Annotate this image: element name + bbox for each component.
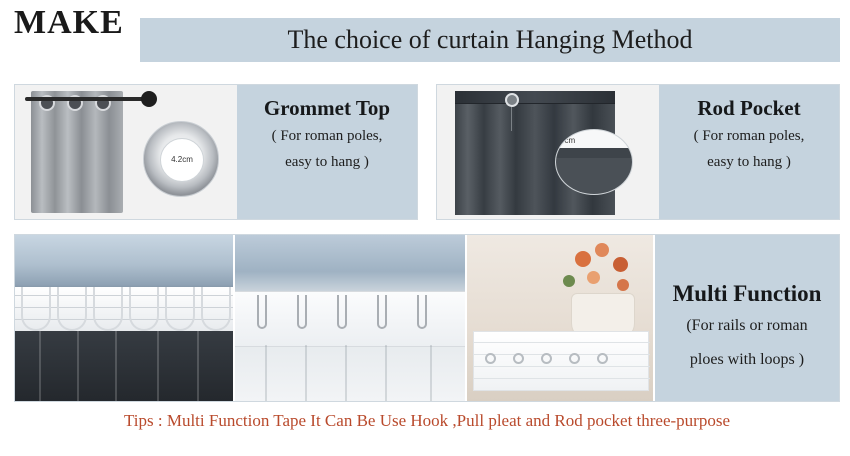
ring-icon	[485, 353, 496, 364]
rod-pocket-title: Rod Pocket	[697, 93, 800, 123]
rod-pocket-closeup: 7cm	[555, 129, 633, 195]
rod-pocket-header	[455, 91, 615, 104]
card-grommet-top: 4.2cm Grommet Top ( For roman poles, eas…	[14, 84, 418, 220]
multi-function-sub2: ploes with loops )	[690, 343, 804, 377]
multi-function-photo-2	[235, 235, 465, 401]
ring-icon	[505, 93, 519, 107]
pocket-fabric	[556, 158, 633, 195]
multi-function-photo-3	[467, 235, 653, 401]
card-rod-pocket: 7cm Rod Pocket ( For roman poles, easy t…	[436, 84, 840, 220]
pleat-tape	[235, 291, 465, 347]
rod-pocket-measure-label: 7cm	[560, 136, 575, 145]
tape-loop	[57, 287, 87, 331]
multi-function-title: Multi Function	[673, 279, 822, 309]
rod-finial	[141, 91, 157, 107]
grommet-top-label-panel: Grommet Top ( For roman poles, easy to h…	[237, 85, 417, 219]
grommet-top-photo: 4.2cm	[15, 85, 239, 219]
multi-function-sub1: (For rails or roman	[686, 309, 807, 343]
tape-loop	[201, 287, 231, 331]
hook-icon	[257, 295, 267, 329]
brand-logo: MAKE	[14, 4, 124, 42]
multi-function-photo-1	[15, 235, 233, 401]
card-multi-function: Multi Function (For rails or roman ploes…	[14, 234, 840, 402]
pocket-band	[556, 148, 633, 158]
tape-loop	[21, 287, 51, 331]
rod-pocket-label-panel: Rod Pocket ( For roman poles, easy to ha…	[659, 85, 839, 219]
tape-loop	[129, 287, 159, 331]
tip-text: Tips : Multi Function Tape It Can Be Use…	[14, 404, 840, 438]
ring-icon	[569, 353, 580, 364]
page-title: The choice of curtain Hanging Method	[140, 18, 840, 62]
grommet-measure-label: 4.2cm	[144, 155, 220, 164]
hook-icon	[337, 295, 347, 329]
curtain-rod	[25, 97, 155, 101]
tape-loop	[165, 287, 195, 331]
grommet-top-sub1: ( For roman poles,	[272, 123, 383, 149]
grommet-top-sub2: easy to hang )	[285, 149, 369, 175]
tape-loop	[93, 287, 123, 331]
rod-pocket-sub2: easy to hang )	[707, 149, 791, 175]
hook-icon	[297, 295, 307, 329]
hook-icon	[377, 295, 387, 329]
grommet-top-title: Grommet Top	[264, 93, 390, 123]
ring-icon	[541, 353, 552, 364]
grommet-ring-closeup: 4.2cm	[143, 121, 219, 197]
rod-pocket-sub1: ( For roman poles,	[694, 123, 805, 149]
rod-pocket-photo: 7cm	[437, 85, 661, 219]
hook-icon	[417, 295, 427, 329]
ring-icon	[513, 353, 524, 364]
ring-icon	[597, 353, 608, 364]
pleat-tape-roll	[473, 331, 649, 391]
poster-root: MAKE The choice of curtain Hanging Metho…	[0, 0, 850, 456]
multi-function-label-panel: Multi Function (For rails or roman ploes…	[655, 235, 839, 401]
